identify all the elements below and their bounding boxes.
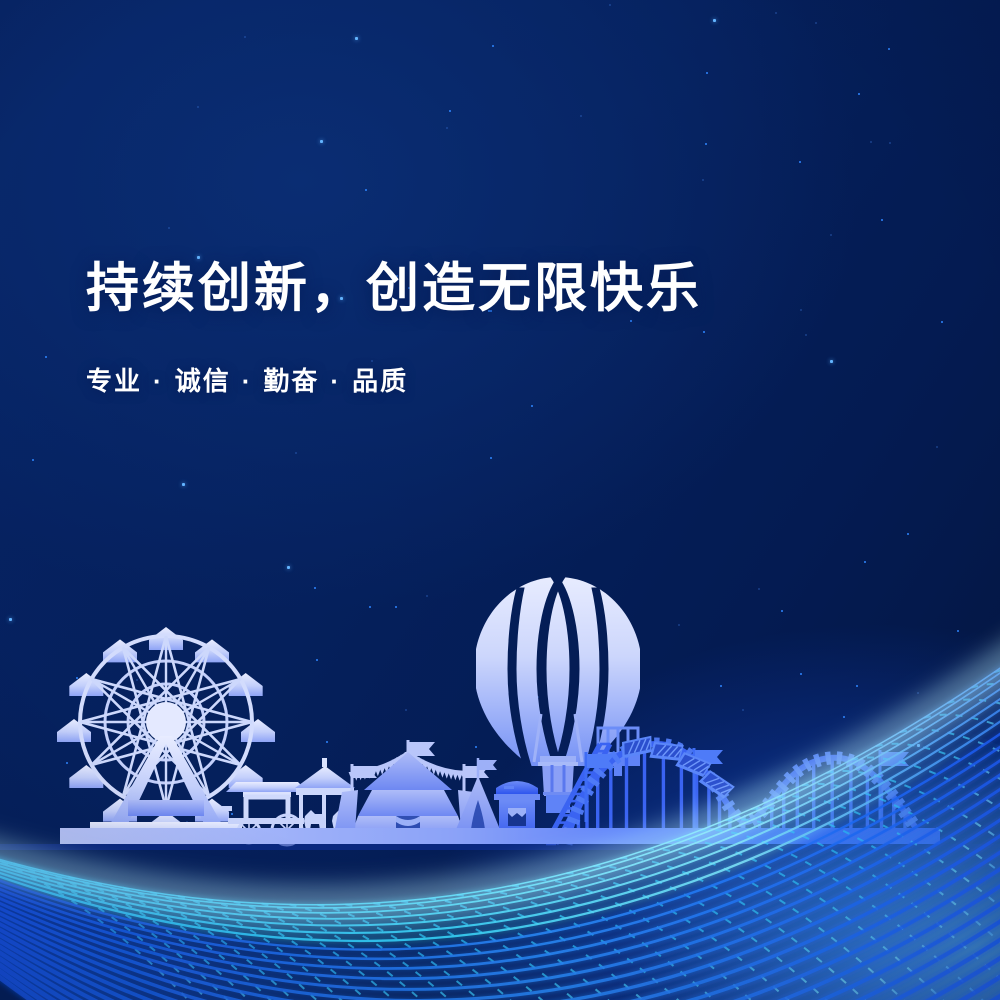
star-dot: [781, 610, 783, 612]
star-dot: [580, 115, 582, 117]
star-dot: [856, 685, 858, 687]
star-dot: [888, 48, 890, 50]
star-dot: [391, 803, 393, 805]
star-dot: [76, 677, 78, 679]
star-dot: [537, 696, 539, 698]
star-dot: [775, 12, 777, 14]
star-dot: [168, 227, 170, 229]
star-dot: [197, 106, 199, 108]
star-dot: [490, 457, 492, 459]
star-dot: [889, 142, 891, 144]
star-field: [0, 0, 1000, 1000]
star-dot: [917, 744, 920, 747]
star-dot: [395, 606, 397, 608]
star-dot: [656, 748, 658, 750]
star-dot: [66, 762, 68, 764]
hero-banner: 持续创新，创造无限快乐 专业·诚信·勤奋·品质: [0, 0, 1000, 1000]
subtitle-separator: ·: [231, 366, 264, 396]
star-dot: [32, 459, 34, 461]
star-dot: [705, 143, 707, 145]
star-dot: [881, 219, 883, 221]
star-dot: [870, 141, 872, 143]
star-dot: [907, 533, 909, 535]
star-dot: [864, 561, 866, 563]
subtitle-word: 专业: [86, 366, 142, 396]
star-dot: [182, 483, 185, 486]
hero-copy: 持续创新，创造无限快乐 专业·诚信·勤奋·品质: [86, 258, 846, 398]
star-dot: [742, 709, 744, 711]
star-dot: [800, 673, 802, 675]
star-dot: [45, 356, 47, 358]
star-dot: [314, 587, 316, 589]
star-dot: [231, 813, 233, 815]
star-dot: [295, 452, 297, 454]
star-dot: [244, 36, 246, 38]
star-dot: [355, 37, 358, 40]
star-dot: [799, 161, 801, 163]
star-dot: [186, 821, 188, 823]
star-dot: [941, 321, 943, 323]
star-dot: [169, 716, 171, 718]
star-dot: [446, 127, 448, 129]
star-dot: [815, 22, 817, 24]
star-dot: [830, 234, 832, 236]
star-dot: [475, 746, 477, 748]
star-dot: [9, 618, 12, 621]
star-dot: [843, 716, 845, 718]
star-dot: [320, 140, 323, 143]
star-dot: [426, 595, 428, 597]
subtitle-separator: ·: [319, 366, 352, 396]
star-dot: [957, 630, 959, 632]
subtitle-word: 品质: [352, 366, 408, 396]
star-dot: [706, 72, 708, 74]
star-dot: [316, 659, 318, 661]
star-dot: [720, 685, 722, 687]
star-dot: [136, 679, 138, 681]
star-dot: [449, 110, 451, 112]
subtitle-word: 勤奋: [263, 366, 319, 396]
star-dot: [405, 709, 407, 711]
star-dot: [678, 624, 680, 626]
subtitle-separator: ·: [142, 366, 175, 396]
star-dot: [702, 179, 704, 181]
star-dot: [492, 45, 494, 47]
star-dot: [609, 4, 611, 6]
star-dot: [858, 93, 860, 95]
star-dot: [837, 798, 839, 800]
star-dot: [531, 405, 533, 407]
star-dot: [326, 741, 328, 743]
star-dot: [713, 19, 716, 22]
star-dot: [758, 588, 760, 590]
star-dot: [936, 446, 938, 448]
page-title: 持续创新，创造无限快乐: [86, 258, 846, 321]
hero-subtitle: 专业·诚信·勤奋·品质: [86, 321, 846, 398]
star-dot: [287, 566, 290, 569]
star-dot: [369, 606, 371, 608]
star-dot: [365, 189, 367, 191]
star-dot: [917, 692, 919, 694]
subtitle-word: 诚信: [175, 366, 231, 396]
